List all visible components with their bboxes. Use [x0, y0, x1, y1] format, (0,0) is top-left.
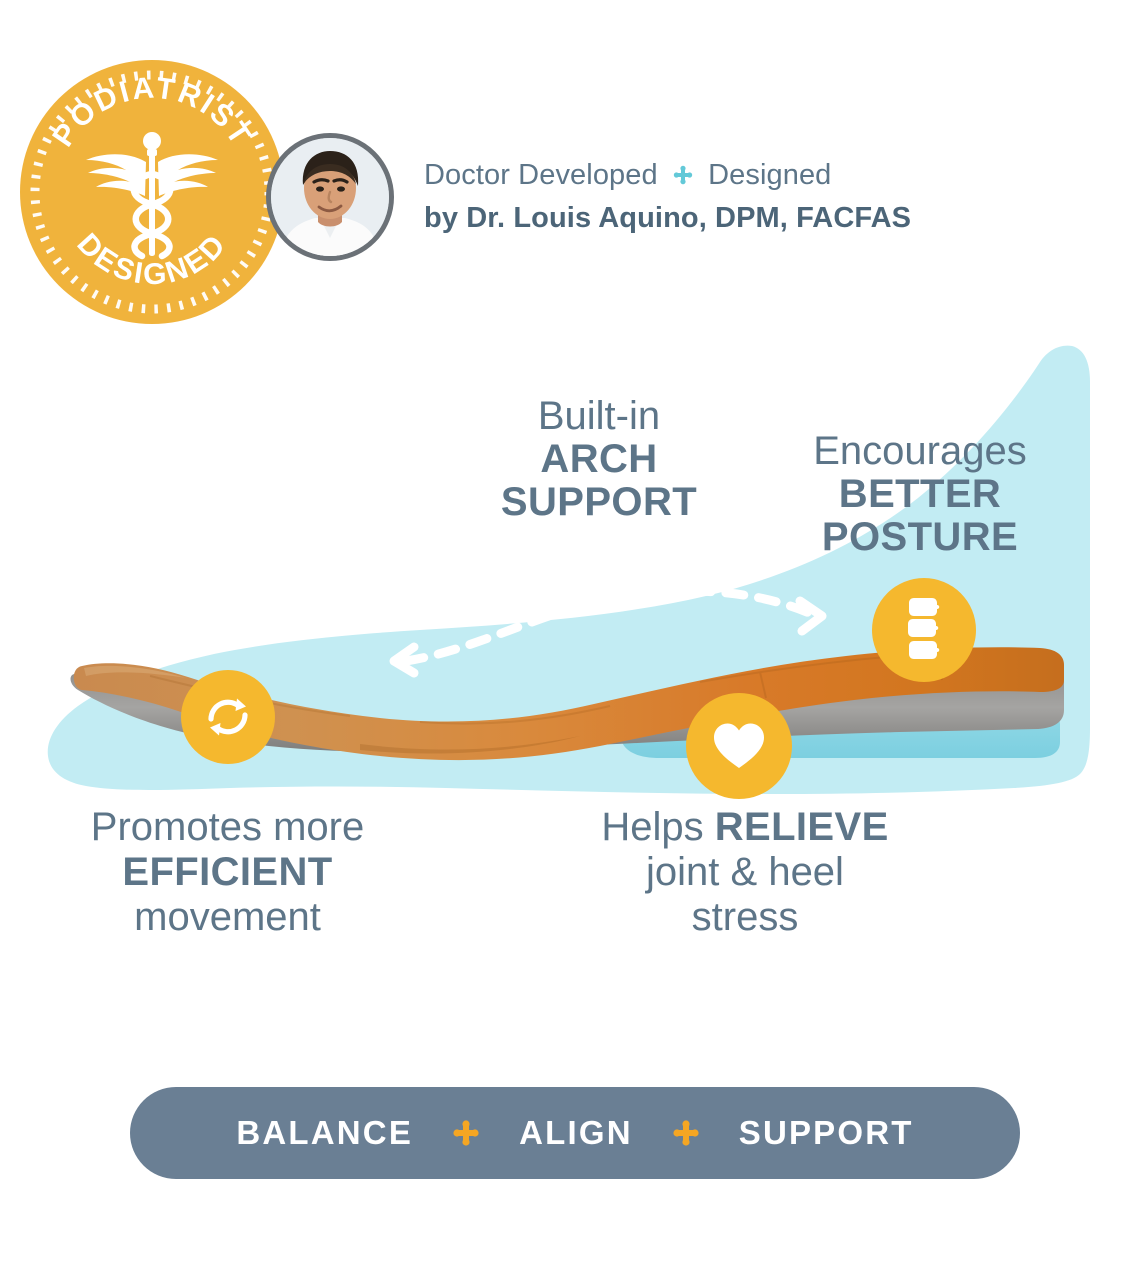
doctor-credit-line1-before: Doctor Developed: [424, 159, 658, 191]
callout-arch-heavy1: ARCH: [449, 438, 749, 481]
doctor-credit-line1: Doctor Developed Designed: [424, 155, 1024, 195]
callout-relieve-line3: stress: [530, 895, 960, 940]
podiatrist-designed-seal: PODIATRIST DESIGNED: [18, 58, 286, 326]
callout-efficient-movement: Promotes more EFFICIENT movement: [20, 805, 435, 939]
doctor-portrait-avatar: [266, 133, 394, 261]
plus-cross-icon: [671, 1118, 701, 1148]
callout-relieve-line2: joint & heel: [530, 850, 960, 895]
plus-cross-icon: [672, 157, 694, 179]
recycle-arrows-icon: [181, 670, 275, 764]
doctor-credit-text: Doctor Developed Designed: [424, 155, 1024, 238]
callout-efficient-line2: EFFICIENT: [20, 850, 435, 895]
pill-word-align: ALIGN: [519, 1114, 633, 1152]
doctor-credit-line1-after: Designed: [708, 159, 831, 191]
dashed-double-arrow-icon: [370, 575, 850, 685]
callout-better-posture: Encourages BETTER POSTURE: [770, 430, 1070, 558]
pill-word-balance: BALANCE: [236, 1114, 413, 1152]
callout-arch-light: Built-in: [449, 395, 749, 438]
product-feature-infographic: PODIATRIST DESIGNED: [0, 0, 1138, 1280]
callout-posture-heavy1: BETTER: [770, 473, 1070, 516]
pill-word-support: SUPPORT: [739, 1114, 914, 1152]
product-illustration-area: Built-in ARCH SUPPORT Encourages BETTER …: [0, 330, 1138, 830]
callout-arch-heavy2: SUPPORT: [449, 481, 749, 524]
callout-efficient-line3: movement: [20, 895, 435, 940]
callout-posture-heavy2: POSTURE: [770, 516, 1070, 559]
doctor-credit-line2: by Dr. Louis Aquino, DPM, FACFAS: [424, 198, 1024, 238]
spine-icon: [872, 578, 976, 682]
heart-icon: [686, 693, 792, 799]
callout-relieve-line1-light: Helps: [601, 805, 703, 849]
plus-cross-icon: [451, 1118, 481, 1148]
callout-relieve-stress: Helps RELIEVE joint & heel stress: [530, 805, 960, 939]
callout-arch-support: Built-in ARCH SUPPORT: [449, 395, 749, 523]
callout-efficient-line1: Promotes more: [20, 805, 435, 850]
balance-align-support-bar: BALANCE ALIGN: [130, 1087, 1020, 1179]
header-row: PODIATRIST DESIGNED: [0, 0, 1138, 345]
callout-relieve-line1-heavy: RELIEVE: [715, 805, 889, 849]
callout-posture-light: Encourages: [770, 430, 1070, 473]
